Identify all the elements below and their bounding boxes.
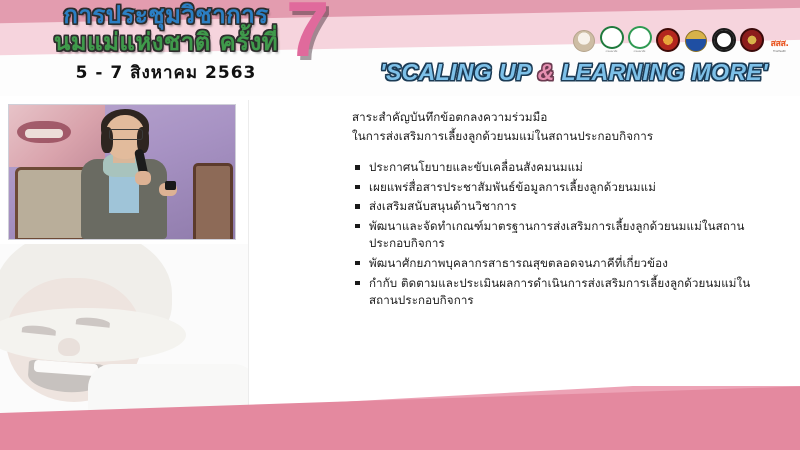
presentation-slide: การประชุมวิชาการ นมแม่แห่งชาติ ครั้งที่ … (0, 0, 800, 450)
logo-royal-emblem (572, 26, 595, 53)
logo-caption: กรมอนามัย (634, 50, 646, 53)
conference-date: 5 - 7 สิงหาคม 2563 (16, 59, 316, 86)
list-item: กำกับ ติดตามและประเมินผลการดำเนินการส่งเ… (352, 275, 772, 310)
logo-caption: ThaiHealth (773, 50, 786, 53)
presentation-clicker (165, 181, 176, 190)
tagline-part2: LEARNING MORE' (555, 59, 768, 85)
list-item: ประกาศนโยบายและขับเคลื่อนสังคมนมแม่ (352, 159, 772, 177)
speaker-glasses (109, 129, 143, 140)
content-heading: สาระสำคัญบันทึกข้อตกลงความร่วมมือ ในการส… (352, 108, 772, 145)
content-bullet-list: ประกาศนโยบายและขับเคลื่อนสังคมนมแม่ เผยแ… (352, 159, 772, 310)
list-item: เผยแพร่สื่อสารประชาสัมพันธ์ข้อมูลการเลี้… (352, 179, 772, 197)
content-text-column: สาระสำคัญบันทึกข้อตกลงความร่วมมือ ในการส… (352, 108, 772, 312)
logo-caption: กรมอนามัย (606, 50, 618, 53)
logo-thaihealth-sss: สสส. ThaiHealth (768, 26, 791, 53)
conference-title-block: การประชุมวิชาการ นมแม่แห่งชาติ ครั้งที่ … (16, 2, 316, 86)
tagline-part1: 'SCALING UP (380, 59, 538, 85)
list-item: ส่งเสริมสนับสนุนด้านวิชาการ (352, 198, 772, 216)
child-nose (58, 338, 80, 356)
conference-edition-number: 7 (286, 0, 329, 68)
content-heading-line1: สาระสำคัญบันทึกข้อตกลงความร่วมมือ (352, 108, 772, 127)
logo-department-of-health: กรมอนามัย (628, 26, 651, 53)
chair-right (193, 163, 233, 240)
list-item: พัฒนาและจัดทำเกณฑ์มาตรฐานการส่งเสริมการเ… (352, 218, 772, 253)
logo-mahidol-university (712, 26, 735, 53)
content-heading-line2: ในการส่งเสริมการเลี้ยงลูกด้วยนมแม่ในสถาน… (352, 127, 772, 146)
backdrop-mural (9, 105, 105, 167)
bottom-band-base (0, 434, 800, 450)
conference-tagline: 'SCALING UP & LEARNING MORE' (358, 57, 790, 87)
partner-logo-row: กรมอนามัย กรมอนามัย สสส. ThaiHealth (572, 26, 791, 53)
logo-thai-breastfeeding-centre (656, 26, 679, 53)
speaker-hand-mic (135, 171, 151, 185)
logo-royal-thai-government (684, 26, 707, 53)
tagline-ampersand: & (538, 59, 555, 85)
list-item: พัฒนาศักยภาพบุคลากรสาธารณสุขตลอดจนภาคีที… (352, 255, 772, 273)
logo-ministry-of-public-health: กรมอนามัย (600, 26, 623, 53)
conference-title-line1: การประชุมวิชาการ (16, 2, 316, 28)
logo-ministry-emblem (740, 26, 763, 53)
column-divider (248, 100, 249, 416)
logo-thaihealth-text: สสส. (771, 39, 789, 49)
bottom-decorative-band (0, 386, 800, 450)
conference-title-line2: นมแม่แห่งชาติ ครั้งที่ (16, 28, 316, 56)
speaker-photo (8, 104, 236, 240)
